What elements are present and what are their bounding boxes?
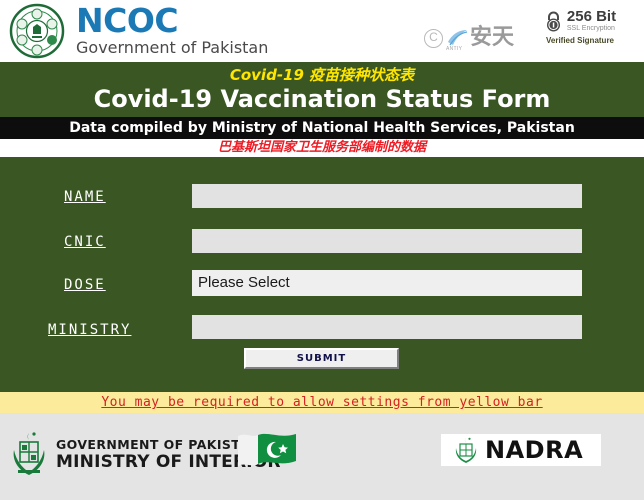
ssl-encryption-label: SSL Encryption [567,24,616,33]
name-input[interactable] [192,184,582,208]
nadra-label: NADRA [485,436,583,464]
cnic-input[interactable] [192,229,582,253]
subtitle-chinese: 巴基斯坦国家卫生服务部编制的数据 [0,139,644,156]
title-band: Covid-19 疫苗接种状态表 Covid-19 Vaccination St… [0,62,644,117]
subtitle-chinese-bar: 巴基斯坦国家卫生服务部编制的数据 [0,139,644,157]
antiy-badge: C 安天 ANTIY [424,27,514,49]
name-label: NAME [64,189,106,205]
ministry-input[interactable] [192,315,582,339]
ssl-verified-label: Verified Signature [530,36,630,45]
ncoc-emblem-icon [8,3,66,59]
lock-icon [544,11,563,32]
ministry-label: MINISTRY [48,322,131,338]
dose-select[interactable]: Please Select [192,270,582,296]
nadra-emblem-icon [453,436,479,464]
page-header: NCOC Government of Pakistan C 安天 ANTIY [0,0,644,62]
copyright-icon: C [424,29,443,48]
ncoc-wordmark: NCOC Government of Pakistan [76,4,268,57]
nadra-logo: NADRA [441,434,601,466]
notice-bar: You may be required to allow settings fr… [0,392,644,413]
antiy-swoosh-icon [446,28,468,48]
ssl-texts: 256 Bit SSL Encryption [567,10,616,33]
ssl-badge-row: 256 Bit SSL Encryption [530,10,630,33]
ncoc-subtitle: Government of Pakistan [76,39,268,57]
antiy-chinese-name: 安天 [470,27,514,49]
vaccination-status-form-page: NCOC Government of Pakistan C 安天 ANTIY [0,0,644,500]
ncoc-title: NCOC [76,4,268,38]
ssl-badge: 256 Bit SSL Encryption Verified Signatur… [530,10,630,45]
dose-label: DOSE [64,277,106,293]
page-title: Covid-19 Vaccination Status Form [0,84,644,114]
ssl-bits-label: 256 Bit [567,10,616,24]
pakistan-state-emblem-icon [8,430,50,478]
antiy-latin-name: ANTIY [446,46,462,52]
subtitle-bar: Data compiled by Ministry of National He… [0,117,644,139]
notice-text: You may be required to allow settings fr… [101,395,542,410]
pakistan-flag-icon [236,430,298,472]
page-title-chinese: Covid-19 疫苗接种状态表 [0,62,644,84]
cnic-label: CNIC [64,234,106,250]
submit-button[interactable]: SUBMIT [244,348,399,369]
